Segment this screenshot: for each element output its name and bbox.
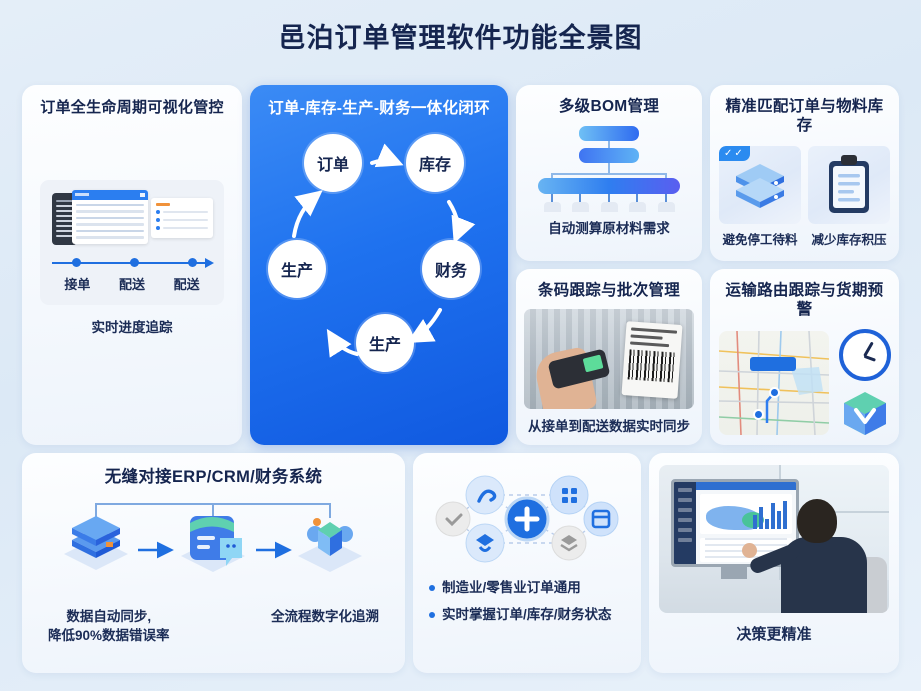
map-icon (719, 331, 829, 435)
clipboard-tile (808, 146, 890, 224)
order-list-window-icon (72, 190, 148, 244)
cycle-node-0[interactable]: 订单 (304, 134, 362, 192)
erp-caption-left-line1: 数据自动同步, (48, 608, 170, 627)
bullet-text-0: 制造业/零售业订单通用 (442, 579, 581, 597)
erp-caption-left: 数据自动同步, 降低90%数据错误率 (48, 608, 170, 646)
order-note-card-icon (151, 198, 213, 238)
card-title-barcode: 条码跟踪与批次管理 (524, 281, 694, 300)
card-title-bom: 多级BOM管理 (524, 97, 694, 116)
erp-flow-illustration (34, 494, 393, 606)
bullet-item: 实时掌握订单/库存/财务状态 (429, 606, 631, 624)
match-caption-0: 避免停工待料 (719, 232, 801, 249)
erp-captions: 数据自动同步, 降低90%数据错误率 全流程数字化追溯 (34, 608, 393, 646)
card-order-material-match[interactable]: 精准匹配订单与物料库存 ✓✓ (710, 85, 899, 261)
bullet-item: 制造业/零售业订单通用 (429, 579, 631, 597)
timeline-step-0: 接单 (64, 274, 90, 293)
erp-caption-left-line2: 降低90%数据错误率 (48, 627, 170, 646)
lifecycle-illustration: 接单 配送 配送 (40, 180, 224, 305)
bullet-dot-icon (429, 612, 435, 618)
bom-tree-illustration (524, 126, 694, 212)
match-captions: 避免停工待料 减少库存积压 (718, 232, 891, 249)
timeline-step-labels: 接单 配送 配送 (50, 274, 214, 293)
erp-caption-right: 全流程数字化追溯 (271, 608, 379, 646)
card-title-cycle: 订单-库存-生产-财务一体化闭环 (260, 99, 498, 118)
route-status-icons (839, 329, 891, 438)
match-caption-1: 减少库存积压 (808, 232, 890, 249)
closed-loop-diagram: 订单 库存 财务 生产 生产 (260, 128, 498, 408)
card-route-tracking[interactable]: 运输路由跟踪与货期预警 (710, 269, 899, 445)
clock-icon (839, 329, 891, 381)
cycle-node-3[interactable]: 生产 (356, 314, 414, 372)
barcode-label-icon (621, 322, 682, 400)
card-order-lifecycle[interactable]: 订单全生命周期可视化管控 (22, 85, 242, 445)
cycle-node-4[interactable]: 生产 (268, 240, 326, 298)
progress-timeline (50, 256, 214, 270)
double-check-icon: ✓✓ (719, 146, 750, 161)
decision-caption: 决策更精准 (659, 625, 889, 645)
card-title-route: 运输路由跟踪与货期预警 (718, 281, 891, 320)
barcode-scanner-photo (524, 309, 694, 409)
card-title-match: 精准匹配订单与物料库存 (718, 97, 891, 136)
card-title-erp: 无缝对接ERP/CRM/财务系统 (34, 467, 393, 488)
office-dashboard-photo (659, 465, 889, 613)
card-barcode-batch[interactable]: 条码跟踪与批次管理 从接单到配送数据实时同步 (516, 269, 702, 445)
timeline-step-1: 配送 (119, 274, 145, 293)
network-illustration (423, 467, 631, 571)
bullet-text-1: 实时掌握订单/库存/财务状态 (442, 606, 612, 624)
bullet-list: 制造业/零售业订单通用 实时掌握订单/库存/财务状态 (423, 579, 631, 623)
page-title: 邑泊订单管理软件功能全景图 (0, 0, 921, 54)
bullet-dot-icon (429, 585, 435, 591)
card-multi-level-bom[interactable]: 多级BOM管理 (516, 85, 702, 261)
database-stack-icon (732, 160, 788, 212)
barcode-caption: 从接单到配送数据实时同步 (524, 418, 694, 436)
card-better-decisions[interactable]: 决策更精准 (649, 453, 899, 673)
lifecycle-caption: 实时进度追踪 (32, 319, 232, 337)
card-title-lifecycle: 订单全生命周期可视化管控 (32, 99, 232, 118)
cards-board: 订单全生命周期可视化管控 (22, 85, 899, 673)
timeline-step-2: 配送 (174, 274, 200, 293)
cycle-node-1[interactable]: 库存 (406, 134, 464, 192)
match-illustrations: ✓✓ (718, 146, 891, 224)
card-erp-integration[interactable]: 无缝对接ERP/CRM/财务系统 (22, 453, 405, 673)
cycle-node-2[interactable]: 财务 (422, 240, 480, 298)
route-illustration (718, 329, 891, 438)
clipboard-icon (827, 155, 871, 215)
package-cube-icon (840, 388, 890, 438)
card-universal-scenarios[interactable]: 制造业/零售业订单通用 实时掌握订单/库存/财务状态 (413, 453, 641, 673)
card-integrated-loop[interactable]: 订单-库存-生产-财务一体化闭环 订单 库存 财务 生产 (250, 85, 508, 445)
lifecycle-screens (50, 190, 214, 252)
bom-caption: 自动测算原材料需求 (524, 220, 694, 238)
stock-tile: ✓✓ (719, 146, 801, 224)
